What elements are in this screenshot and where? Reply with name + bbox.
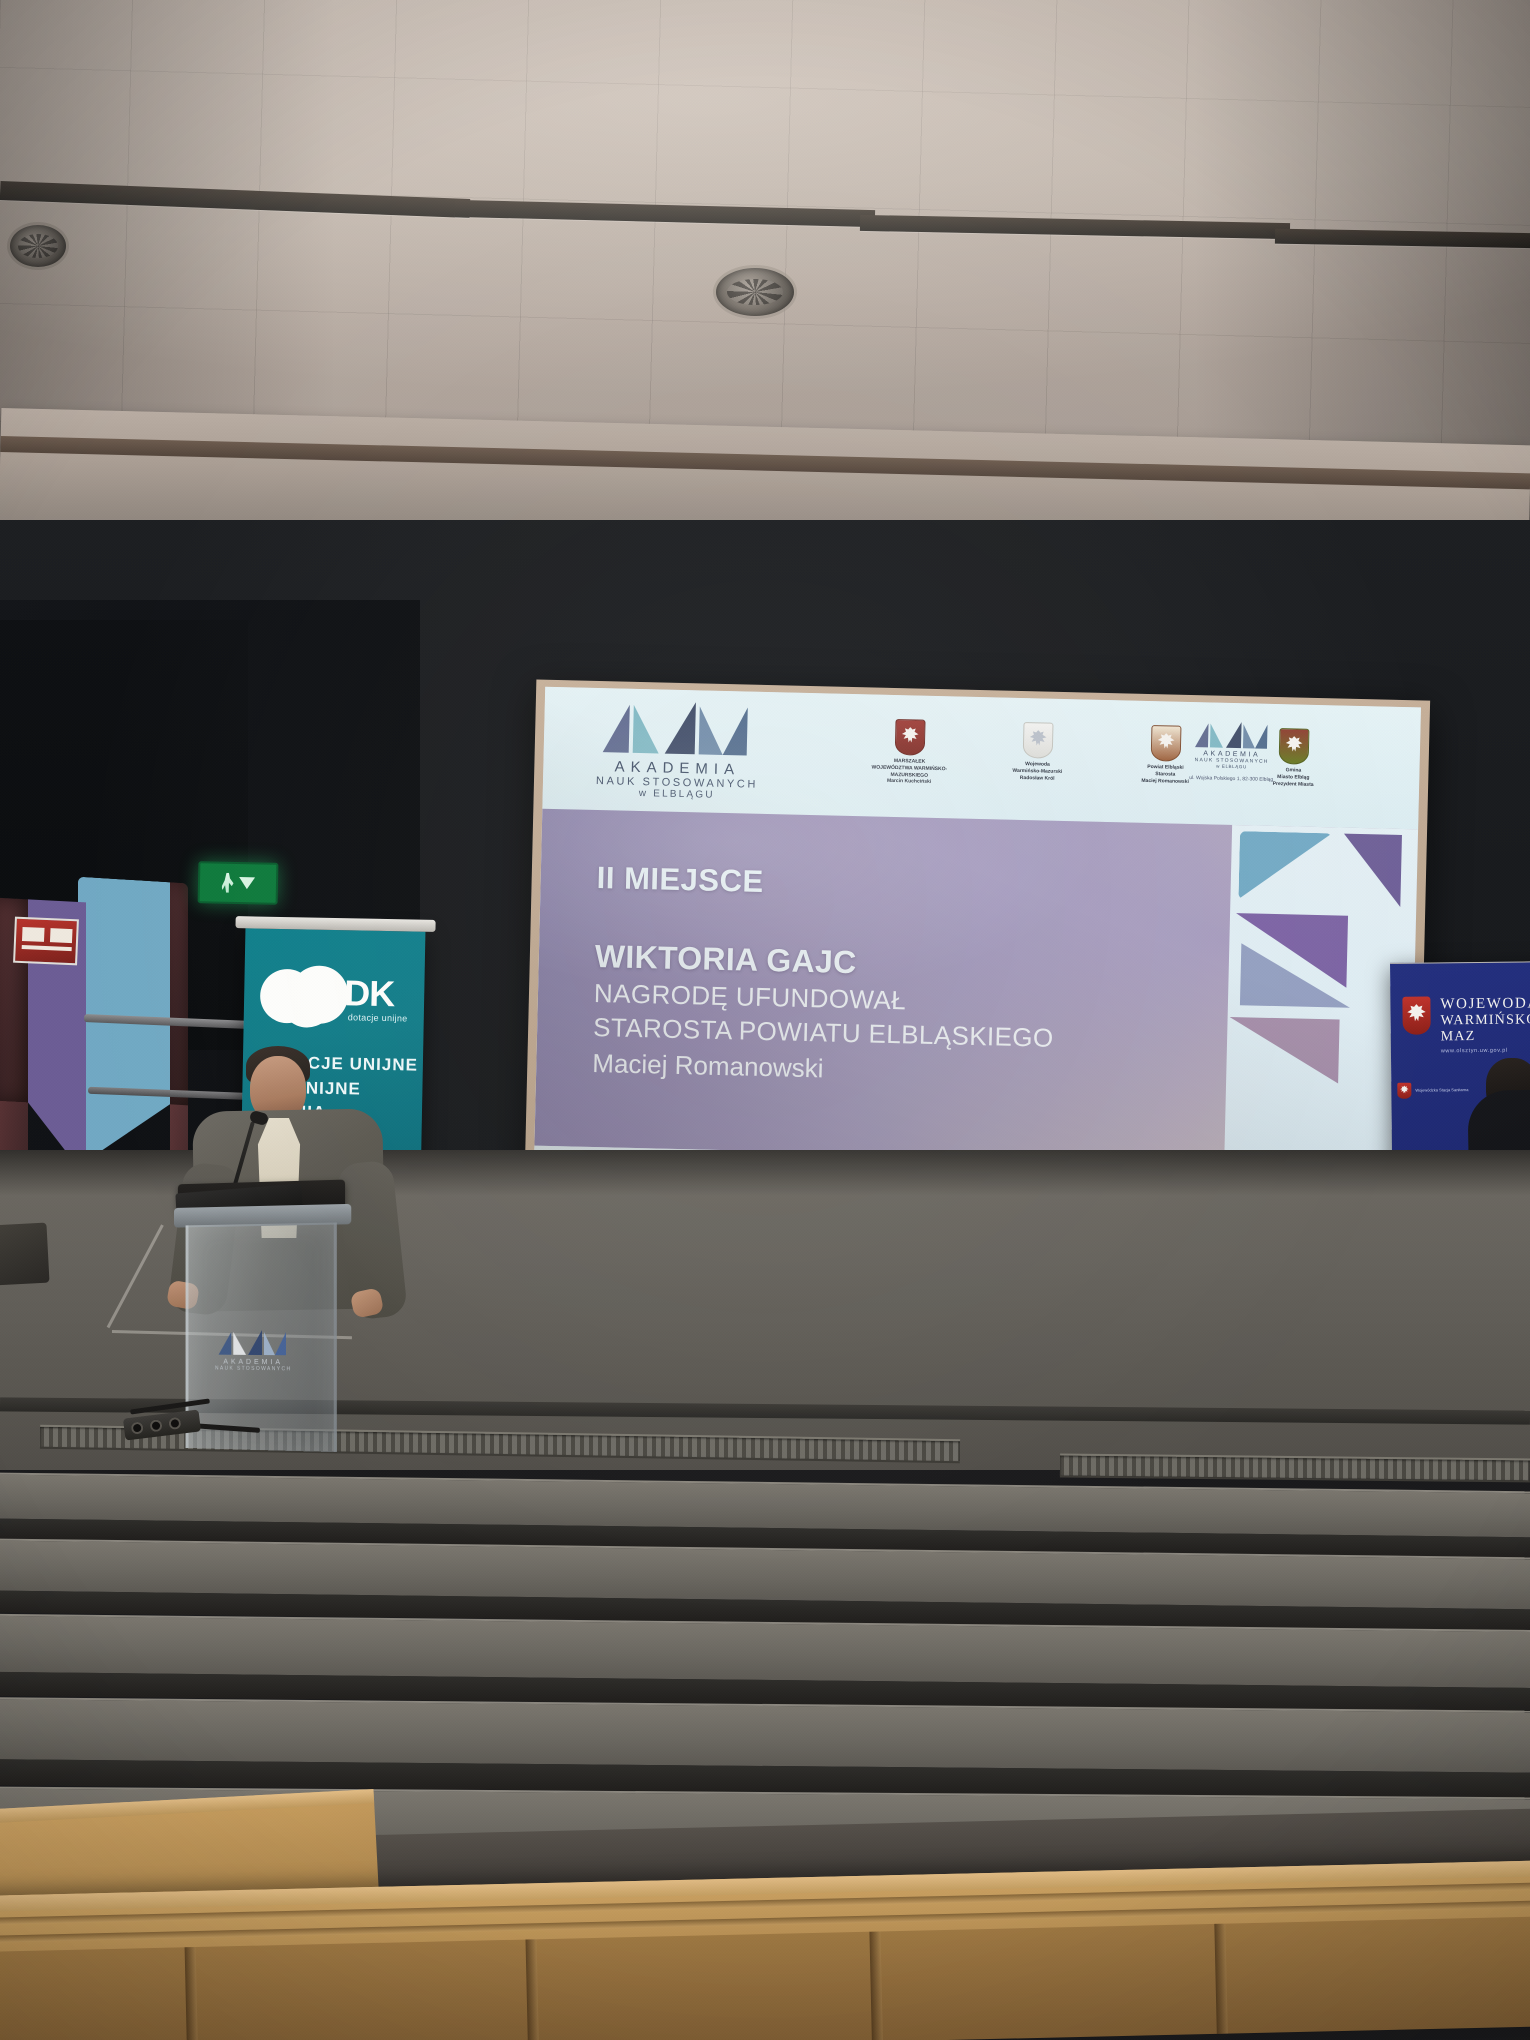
wojewoda-title-line-2: WARMIŃSKO-MAZ [1440,1012,1530,1045]
ans-triangles-icon [603,698,754,758]
triangle-decoration [1342,834,1402,907]
side-equipment [0,1223,50,1286]
ans-triangles-icon [219,1330,288,1356]
triangle-decoration [1228,1017,1339,1084]
slide-body: II MIEJSCE WIKTORIA GAJC NAGRODĘ UFUNDOW… [534,809,1418,1167]
fire-alarm-panel[interactable] [13,917,79,966]
slide-text-block: II MIEJSCE WIKTORIA GAJC NAGRODĘ UFUNDOW… [592,860,1217,1094]
polish-eagle-crest-icon [1402,996,1430,1034]
lectern-logo-line2: NAUK STOSOWANYCH [214,1366,293,1373]
crest-wojewoda-eagle-icon [1023,722,1054,759]
wdk-logo-subtitle: dotacje unijne [348,1012,408,1023]
projection-screen: AKADEMIA NAUK STOSOWANYCH w ELBLĄGU MARS… [533,687,1421,1206]
triangle-decoration [1238,831,1332,901]
glass-lectern: AKADEMIA NAUK STOSOWANYCH [199,1180,320,1451]
mini-agency-logo: Wojewódzka Stacja Sanitarna [1397,1082,1473,1099]
lectern-ans-logo: AKADEMIA NAUK STOSOWANYCH [214,1330,293,1373]
ans-logo: AKADEMIA NAUK STOSOWANYCH w ELBLĄGU [587,698,769,802]
triangle-decoration [1240,943,1351,1008]
crest-caption-line3: Marcin Kuchciński [863,778,955,787]
ans-logo-right: AKADEMIA NAUK STOSOWANYCH w ELBLĄGU ul. … [1161,719,1302,785]
partner-crest: MARSZAŁEK WOJEWÓDZTWA WARMIŃSKO-MAZURSKI… [863,718,957,786]
partner-crest: Wojewoda Warmińsko-Mazurski Radosław Kró… [991,721,1084,782]
crest-caption-line3: Radosław Król [991,774,1083,783]
lectern-body: AKADEMIA NAUK STOSOWANYCH [186,1222,337,1452]
wojewoda-banner-head: WOJEWODA WARMIŃSKO-MAZ www.olsztyn.uw.go… [1402,995,1530,1055]
wdk-logo-text: DK [344,972,395,1015]
exit-sign [198,861,279,905]
banner-top-rail [235,916,435,932]
slide-header: AKADEMIA NAUK STOSOWANYCH w ELBLĄGU MARS… [542,687,1421,830]
ans-triangles-icon [1195,720,1270,750]
floor-grate [1060,1454,1530,1483]
crest-warminsko-mazurskie-icon [895,719,926,756]
auditorium-scene: AKADEMIA NAUK STOSOWANYCH w ELBLĄGU MARS… [0,0,1530,2040]
running-man-icon [221,873,233,893]
award-place: II MIEJSCE [596,860,1217,911]
wdk-logo-icon: DK dotacje unijne [260,965,411,1030]
wojewoda-title-line-1: WOJEWODA [1440,995,1530,1013]
bulkhead-stripe [0,436,1530,489]
mini-agency-label: Wojewódzka Stacja Sanitarna [1415,1087,1473,1094]
slide-decoration-column [1224,825,1418,1166]
wojewoda-small-url: www.olsztyn.uw.gov.pl [1441,1047,1530,1054]
down-arrow-icon [238,877,254,889]
